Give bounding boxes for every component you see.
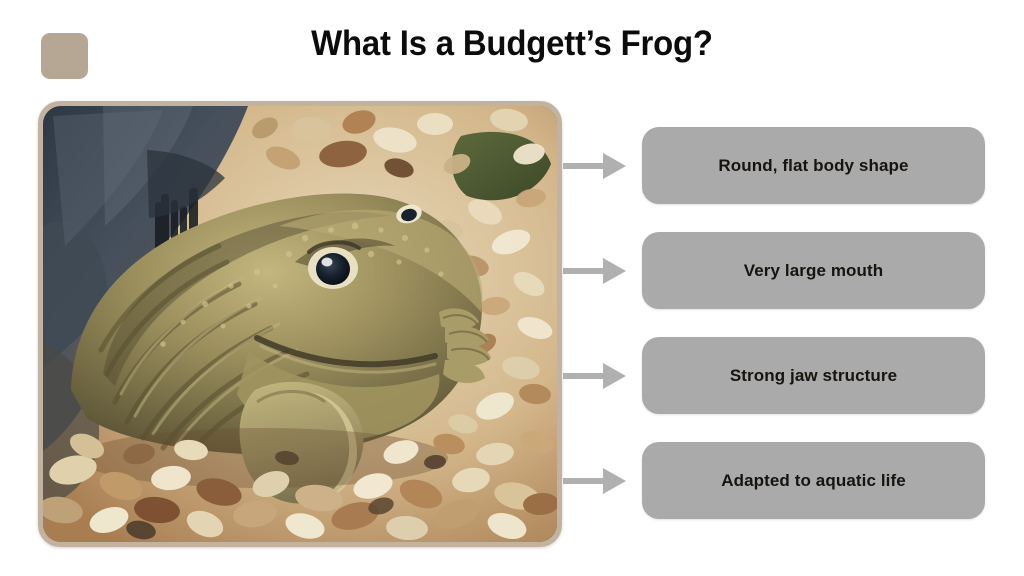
connector-arrow-4: [563, 466, 627, 496]
page-title: What Is a Budgett’s Frog?: [31, 24, 994, 64]
frog-photo-frame: [38, 101, 562, 547]
callout-box-1[interactable]: Round, flat body shape: [642, 127, 985, 204]
frog-photo: [43, 106, 557, 542]
callout-box-3[interactable]: Strong jaw structure: [642, 337, 985, 414]
callout-label-4: Adapted to aquatic life: [707, 471, 920, 491]
callout-box-2[interactable]: Very large mouth: [642, 232, 985, 309]
connector-arrow-1: [563, 151, 627, 181]
callout-label-3: Strong jaw structure: [716, 366, 911, 386]
callout-label-2: Very large mouth: [730, 261, 898, 281]
connector-arrow-2: [563, 256, 627, 286]
callout-label-1: Round, flat body shape: [704, 156, 922, 176]
slide-canvas: What Is a Budgett’s Frog?: [0, 0, 1024, 576]
callout-box-4[interactable]: Adapted to aquatic life: [642, 442, 985, 519]
connector-arrow-3: [563, 361, 627, 391]
